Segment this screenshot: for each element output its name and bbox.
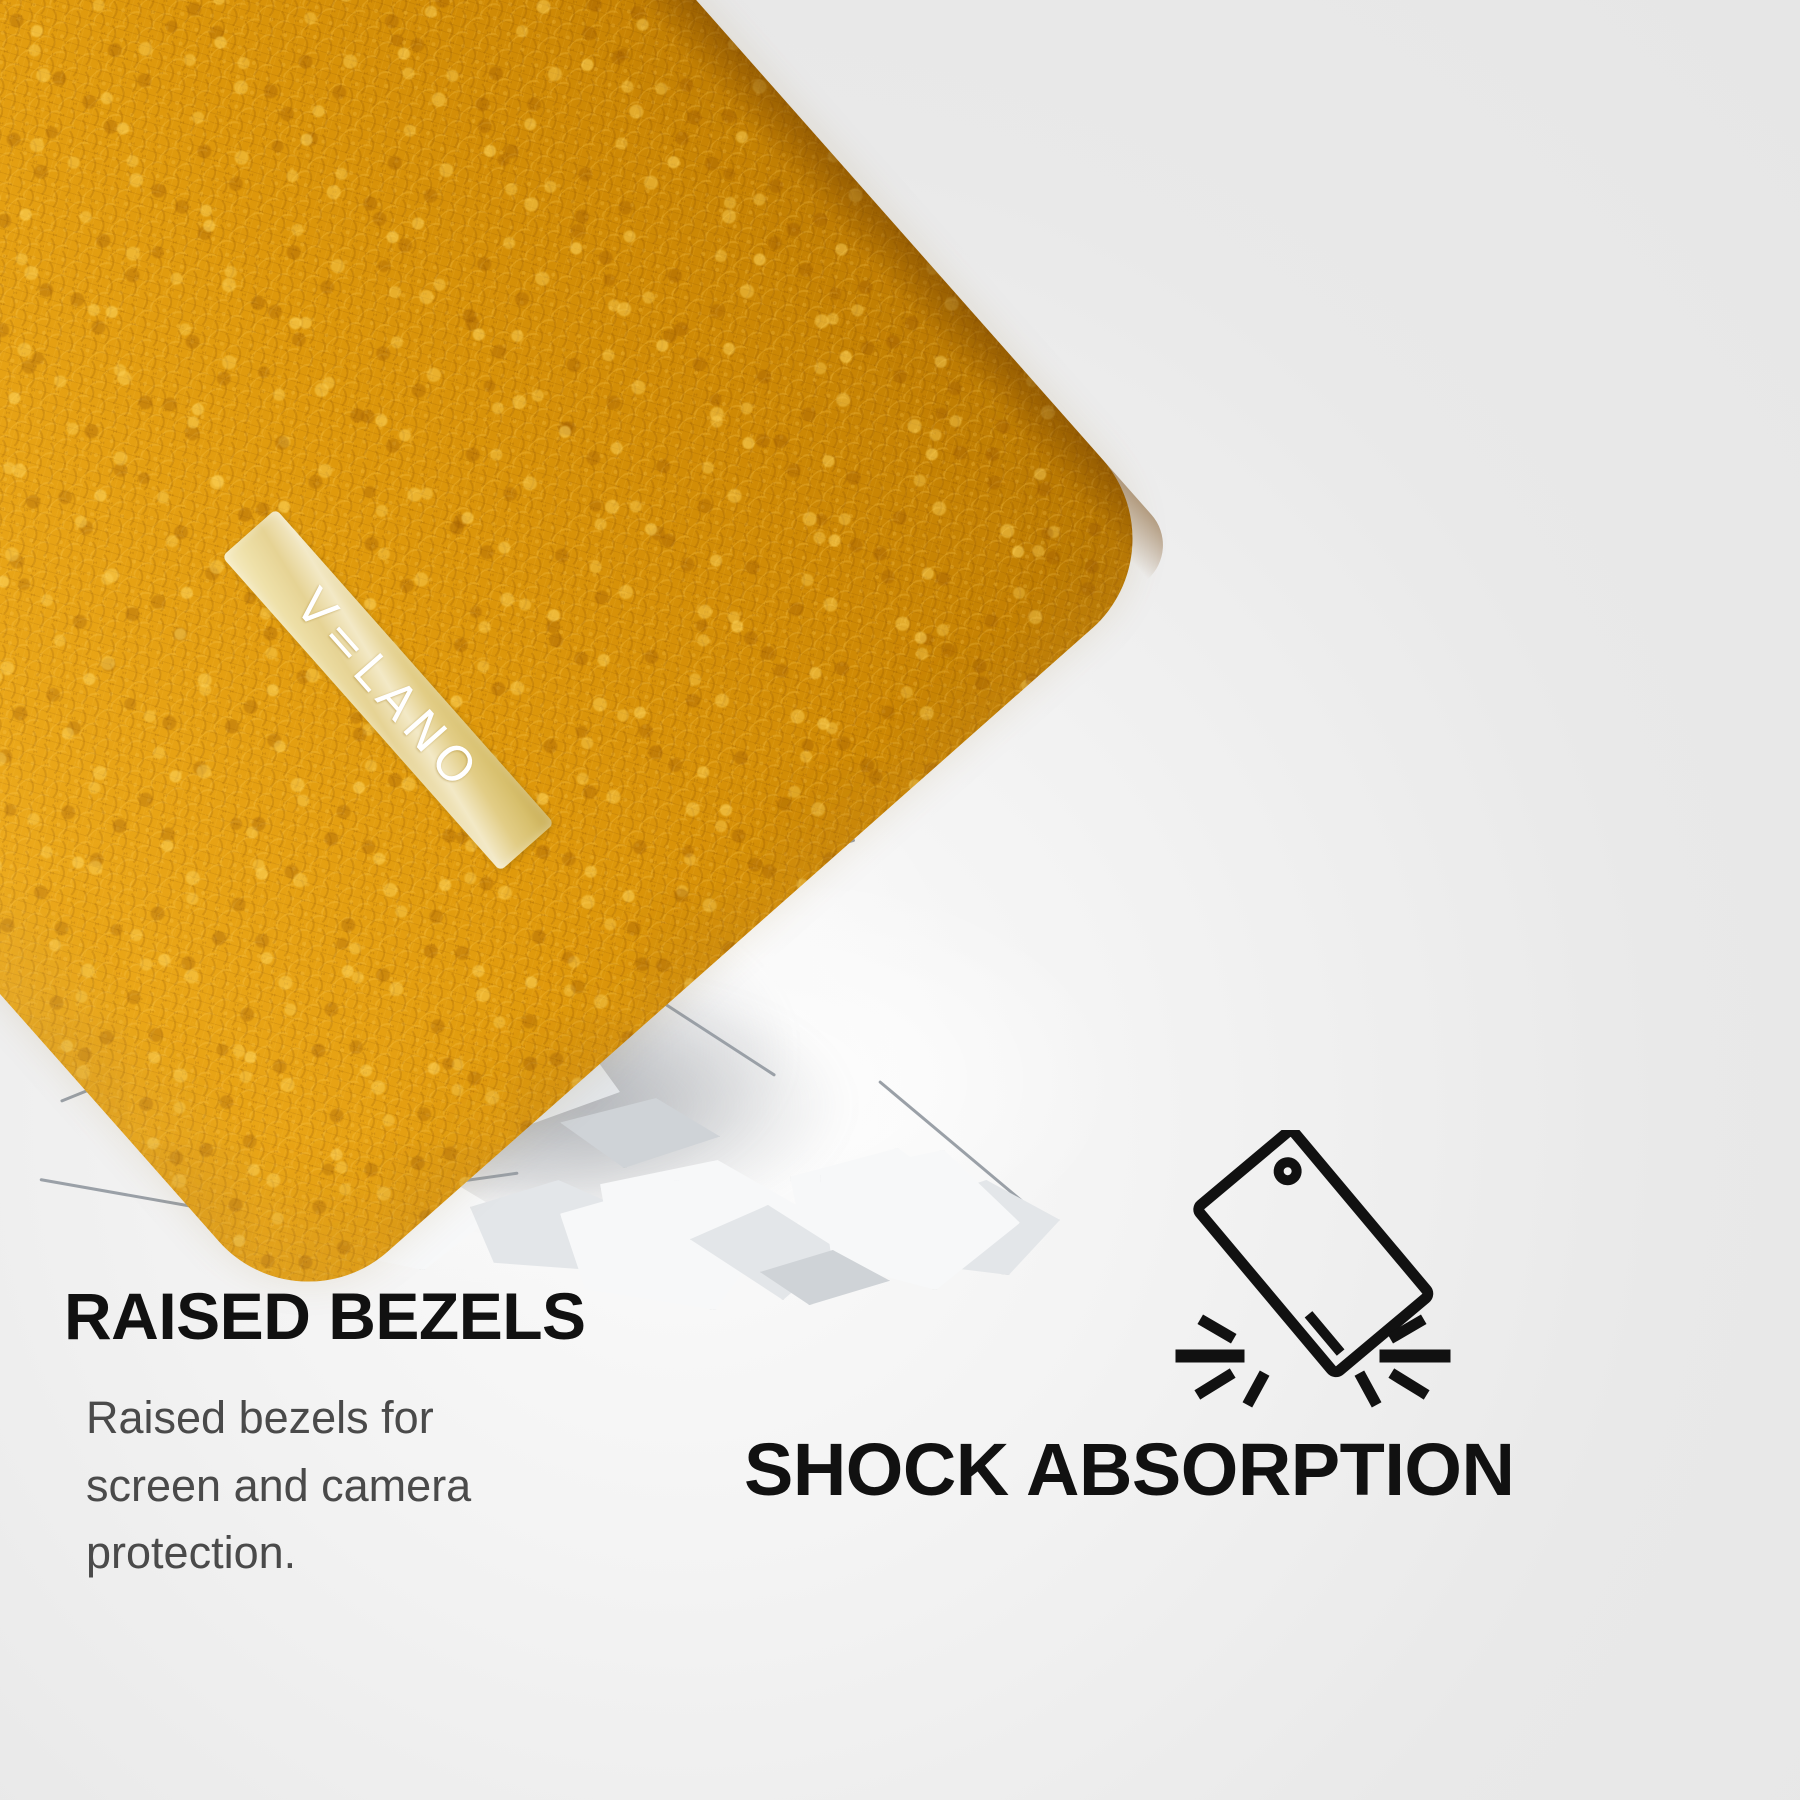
feature-body: Raised bezels for screen and camera prot… [86,1384,516,1587]
phone-impact-icon [1172,1130,1452,1410]
feature-shock-absorption: SHOCK ABSORPTION [744,1432,1800,1507]
feature-title: SHOCK ABSORPTION [744,1432,1800,1507]
feature-raised-bezels: RAISED BEZELS Raised bezels for screen a… [64,1283,624,1587]
feature-title: RAISED BEZELS [64,1283,624,1350]
product-feature-banner: V=LANO RAISED BEZELS Raised bezels for s… [0,0,1800,1800]
